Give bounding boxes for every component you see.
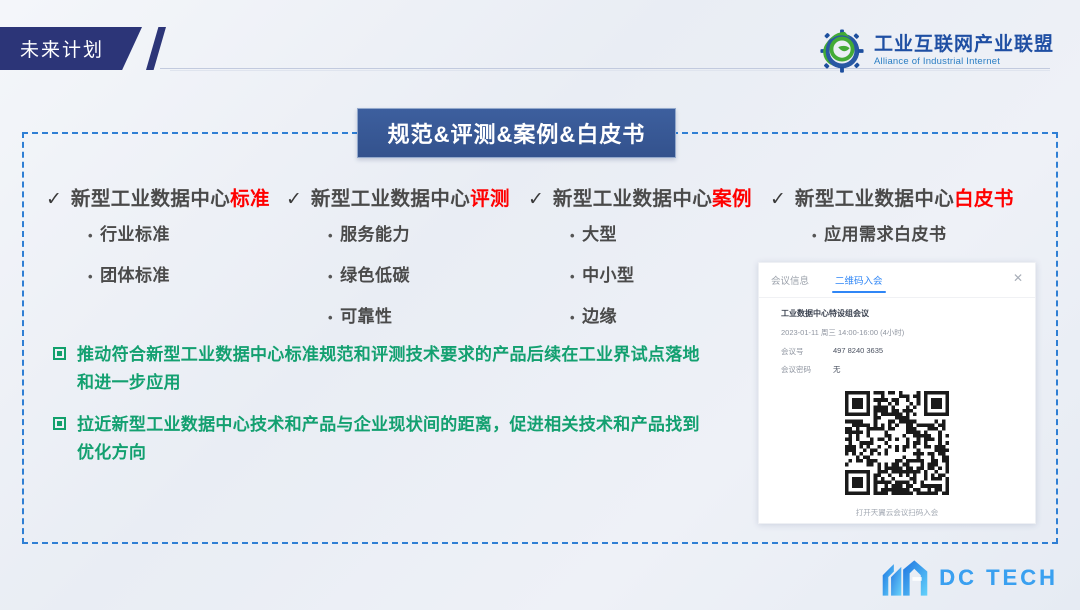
org-logo-text: 工业互联网产业联盟 Alliance of Industrial Interne… [874, 35, 1054, 68]
slide-canvas: 未来计划 [0, 0, 1080, 610]
tab-qr-join[interactable]: 二维码入会 [835, 267, 883, 293]
sublist-case: •大型 •中小型 •边缘 [570, 220, 635, 343]
list-item-label: 服务能力 [340, 225, 410, 244]
list-item-label: 绿色低碳 [340, 266, 410, 285]
column-header-standard: ✓ 新型工业数据中心 标准 [46, 182, 270, 211]
goals-block: 推动符合新型工业数据中心标准规范和评测技术要求的产品后续在工业界试点落地和进一步… [53, 341, 713, 481]
list-item: •大型 [570, 220, 635, 245]
meeting-field-password: 会议密码 无 [781, 364, 1021, 375]
column-header-emphasis: 标准 [230, 182, 270, 211]
sublist-standard: •行业标准 •团体标准 [88, 220, 170, 302]
meeting-date: 2023-01-11 周三 14:00-16:00 (4小时) [781, 327, 1021, 338]
bullet-dot-icon: • [328, 310, 333, 325]
list-item-label: 行业标准 [100, 225, 170, 244]
bullet-dot-icon: • [88, 228, 93, 243]
list-item-label: 中小型 [582, 266, 635, 285]
column-header-case: ✓ 新型工业数据中心 案例 [528, 182, 752, 211]
list-item-label: 大型 [582, 225, 617, 244]
bullet-dot-icon: • [328, 228, 333, 243]
title-slash-decoration [146, 27, 166, 70]
section-title-tab: 未来计划 [0, 27, 142, 70]
check-icon: ✓ [286, 188, 302, 211]
meeting-field-label: 会议密码 [781, 364, 833, 375]
section-title-text: 未来计划 [20, 35, 104, 62]
check-icon: ✓ [770, 188, 786, 211]
tab-meeting-info[interactable]: 会议信息 [771, 267, 809, 293]
meeting-title: 工业数据中心特设组会议 [781, 308, 1021, 319]
goal-text: 拉近新型工业数据中心技术和产品与企业现状间的距离，促进相关技术和产品找到优化方向 [77, 411, 713, 467]
list-item: •行业标准 [88, 220, 170, 245]
meeting-field-value: 497 8240 3635 [833, 346, 883, 357]
sublist-evaluation: •服务能力 •绿色低碳 •可靠性 [328, 220, 410, 343]
column-header-prefix: 新型工业数据中心 [71, 182, 230, 211]
bullet-dot-icon: • [812, 228, 817, 243]
square-bullet-icon [53, 347, 66, 360]
square-bullet-icon [53, 417, 66, 430]
column-header-emphasis: 案例 [712, 182, 752, 211]
column-header-prefix: 新型工业数据中心 [311, 182, 470, 211]
column-header-prefix: 新型工业数据中心 [553, 182, 712, 211]
close-icon[interactable]: ✕ [1013, 272, 1023, 284]
goal-text: 推动符合新型工业数据中心标准规范和评测技术要求的产品后续在工业界试点落地和进一步… [77, 341, 713, 397]
list-item: •绿色低碳 [328, 261, 410, 286]
goal-item: 推动符合新型工业数据中心标准规范和评测技术要求的产品后续在工业界试点落地和进一步… [53, 341, 713, 397]
list-item: •可靠性 [328, 302, 410, 327]
qr-code-block: 打开天翼云会议扫码入会 [759, 391, 1035, 518]
list-item: •团体标准 [88, 261, 170, 286]
bullet-dot-icon: • [328, 269, 333, 284]
org-name-cn: 工业互联网产业联盟 [874, 35, 1054, 55]
gear-leaf-icon [819, 28, 865, 74]
bullet-dot-icon: • [570, 310, 575, 325]
meeting-qr-card: 会议信息 二维码入会 ✕ 工业数据中心特设组会议 2023-01-11 周三 1… [758, 262, 1036, 524]
footer-brand-logo: DC TECH [879, 558, 1058, 598]
sublist-whitepaper: •应用需求白皮书 [812, 220, 947, 261]
column-header-evaluation: ✓ 新型工业数据中心 评测 [286, 182, 510, 211]
meeting-field-label: 会议号 [781, 346, 833, 357]
list-item: •应用需求白皮书 [812, 220, 947, 245]
list-item-label: 团体标准 [100, 266, 170, 285]
meeting-meta: 工业数据中心特设组会议 2023-01-11 周三 14:00-16:00 (4… [759, 298, 1035, 375]
org-logo: 工业互联网产业联盟 Alliance of Industrial Interne… [819, 28, 1054, 74]
list-item: •中小型 [570, 261, 635, 286]
meeting-field-id: 会议号 497 8240 3635 [781, 346, 1021, 357]
column-header-prefix: 新型工业数据中心 [795, 182, 954, 211]
org-name-en: Alliance of Industrial Internet [874, 56, 1054, 67]
list-item: •服务能力 [328, 220, 410, 245]
check-icon: ✓ [528, 188, 544, 211]
list-item-label: 可靠性 [340, 307, 393, 326]
banner-title-text: 规范&评测&案例&白皮书 [388, 117, 646, 149]
list-item-label: 应用需求白皮书 [824, 225, 947, 244]
check-icon: ✓ [46, 188, 62, 211]
goal-item: 拉近新型工业数据中心技术和产品与企业现状间的距离，促进相关技术和产品找到优化方向 [53, 411, 713, 467]
qr-caption: 打开天翼云会议扫码入会 [856, 507, 939, 518]
bullet-dot-icon: • [570, 228, 575, 243]
column-header-whitepaper: ✓ 新型工业数据中心 白皮书 [770, 182, 1014, 211]
slide-header: 未来计划 [0, 0, 1080, 92]
dc-tech-mark-icon [879, 558, 931, 598]
meeting-field-value: 无 [833, 364, 841, 375]
bullet-dot-icon: • [570, 269, 575, 284]
column-header-emphasis: 白皮书 [954, 182, 1014, 211]
bullet-dot-icon: • [88, 269, 93, 284]
brand-name: DC TECH [939, 565, 1058, 591]
content-banner-title: 规范&评测&案例&白皮书 [357, 108, 676, 158]
meeting-card-tabs: 会议信息 二维码入会 ✕ [759, 263, 1035, 298]
column-header-emphasis: 评测 [470, 182, 510, 211]
list-item-label: 边缘 [582, 307, 617, 326]
list-item: •边缘 [570, 302, 635, 327]
qr-code-icon [845, 391, 949, 495]
